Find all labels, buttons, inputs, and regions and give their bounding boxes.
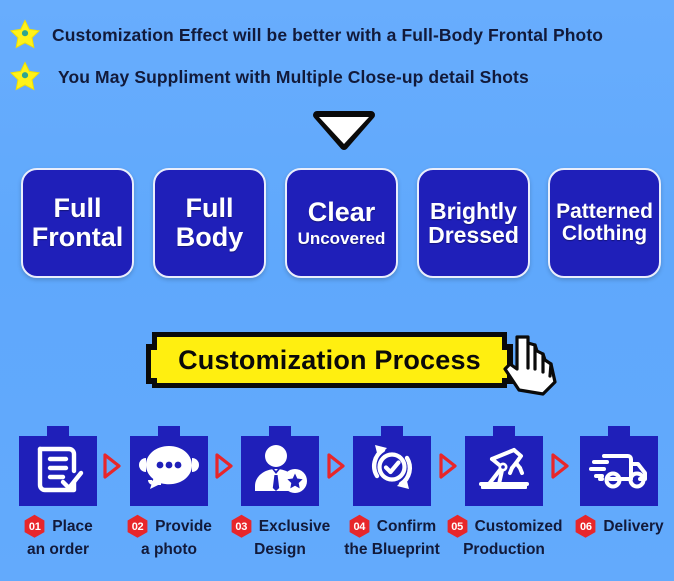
down-triangle-icon <box>313 110 375 150</box>
step-label-line-1: Exclusive <box>259 518 331 536</box>
process-step-5[interactable]: 05 Customized Production <box>452 424 556 559</box>
step-label-line-2: an order <box>27 541 89 559</box>
right-triangle-arrow-icon <box>548 452 570 480</box>
step-label-line-1: Provide <box>155 518 212 536</box>
step-label-line-1: Customized <box>475 518 563 536</box>
step-label-row: 05 Customized <box>446 514 563 539</box>
badge-line-2: Body <box>176 223 244 252</box>
step-number-badge: 06 <box>574 514 597 539</box>
feature-badges: Full Frontal Full Body Clear Uncovered B… <box>0 168 674 280</box>
badge-line-1: Clear <box>308 198 376 227</box>
process-steps: 01 Place an order <box>0 424 674 581</box>
step-label-line-2: the Blueprint <box>344 541 440 559</box>
step-number-badge: 01 <box>23 514 46 539</box>
robot-arm-icon <box>465 424 543 506</box>
step-label-line-1: Place <box>52 518 93 536</box>
step-label-line-2: a photo <box>141 541 197 559</box>
step-label-row: 06 Delivery <box>574 514 663 539</box>
star-icon <box>8 18 42 52</box>
tips-section: Customization Effect will be better with… <box>0 14 674 98</box>
step-number-badge: 02 <box>126 514 149 539</box>
step-number: 04 <box>348 514 371 539</box>
tip-text: Customization Effect will be better with… <box>52 25 603 46</box>
step-number: 02 <box>126 514 149 539</box>
step-label-line-2: Design <box>254 541 306 559</box>
star-icon <box>8 60 42 94</box>
step-number-badge: 03 <box>230 514 253 539</box>
step-label-row: 01 Place <box>23 514 93 539</box>
process-step-6[interactable]: 06 Delivery <box>567 424 671 541</box>
process-step-3[interactable]: 03 Exclusive Design <box>228 424 332 559</box>
step-label-line-1: Confirm <box>377 518 436 536</box>
banner-notch-left <box>151 350 157 378</box>
refresh-check-icon <box>353 424 431 506</box>
step-label-row: 02 Provide <box>126 514 212 539</box>
step-number: 01 <box>23 514 46 539</box>
process-step-4[interactable]: 04 Confirm the Blueprint <box>340 424 444 559</box>
badge-full-body[interactable]: Full Body <box>153 168 266 278</box>
step-label-row: 03 Exclusive <box>230 514 331 539</box>
delivery-truck-icon <box>580 424 658 506</box>
badge-line-2: Frontal <box>32 223 124 252</box>
hand-pointer-cursor-icon <box>495 324 571 400</box>
badge-line-1: Patterned <box>556 201 653 223</box>
chat-headset-icon <box>130 424 208 506</box>
badge-line-1: Full <box>186 194 234 223</box>
step-number-badge: 04 <box>348 514 371 539</box>
step-label-line-2: Production <box>463 541 545 559</box>
promo-infographic: Customization Effect will be better with… <box>0 0 674 581</box>
customization-process-banner: Customization Process <box>150 328 570 396</box>
badge-line-2: Clothing <box>562 223 647 245</box>
badge-line-2: Uncovered <box>298 230 386 248</box>
badge-clear-uncovered[interactable]: Clear Uncovered <box>285 168 398 278</box>
step-number-badge: 05 <box>446 514 469 539</box>
banner-plate: Customization Process <box>152 332 507 388</box>
clipboard-check-icon <box>19 424 97 506</box>
step-number: 05 <box>446 514 469 539</box>
step-number: 03 <box>230 514 253 539</box>
banner-title: Customization Process <box>178 345 481 376</box>
badge-line-2: Dressed <box>428 223 519 247</box>
right-triangle-arrow-icon <box>212 452 234 480</box>
badge-line-1: Brightly <box>430 199 517 223</box>
badge-patterned-clothing[interactable]: Patterned Clothing <box>548 168 661 278</box>
step-number: 06 <box>574 514 597 539</box>
step-label-row: 04 Confirm <box>348 514 436 539</box>
step-label-line-1: Delivery <box>603 518 663 536</box>
badge-brightly-dressed[interactable]: Brightly Dressed <box>417 168 530 278</box>
tip-row-2: You May Suppliment with Multiple Close-u… <box>0 56 674 98</box>
badge-line-1: Full <box>54 194 102 223</box>
right-triangle-arrow-icon <box>100 452 122 480</box>
tip-text: You May Suppliment with Multiple Close-u… <box>58 67 529 88</box>
process-step-1[interactable]: 01 Place an order <box>6 424 110 559</box>
tip-row-1: Customization Effect will be better with… <box>0 14 674 56</box>
process-step-2[interactable]: 02 Provide a photo <box>117 424 221 559</box>
right-triangle-arrow-icon <box>324 452 346 480</box>
person-star-icon <box>241 424 319 506</box>
right-triangle-arrow-icon <box>436 452 458 480</box>
badge-full-frontal[interactable]: Full Frontal <box>21 168 134 278</box>
